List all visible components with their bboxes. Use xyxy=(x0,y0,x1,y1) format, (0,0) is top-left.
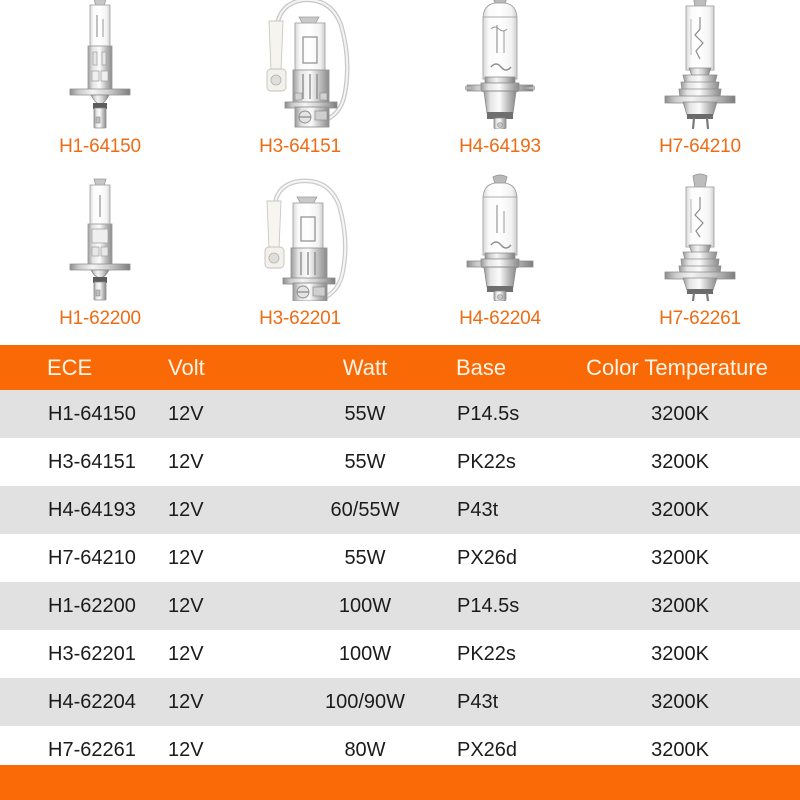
h3-halogen-bulb-icon xyxy=(200,173,400,301)
cell-volt: 12V xyxy=(160,452,300,472)
table-row: H4-64193 12V 60/55W P43t 3200K xyxy=(0,486,800,534)
cell-color-temperature: 3200K xyxy=(560,500,800,520)
h1-halogen-bulb-icon xyxy=(0,0,200,129)
h4-halogen-bulb-icon xyxy=(400,0,600,129)
table-row: H3-62201 12V 100W PK22s 3200K xyxy=(0,630,800,678)
cell-base: P43t xyxy=(430,692,560,712)
cell-volt: 12V xyxy=(160,500,300,520)
h3-halogen-bulb-icon xyxy=(200,0,400,129)
cell-watt: 55W xyxy=(300,452,430,472)
cell-base: P14.5s xyxy=(430,596,560,616)
bulb-label: H3-64151 xyxy=(259,129,341,172)
cell-ece: H1-62200 xyxy=(0,596,160,616)
cell-volt: 12V xyxy=(160,692,300,712)
cell-ece: H7-64210 xyxy=(0,548,160,568)
bulb-label: H7-64210 xyxy=(659,129,741,172)
bulb-gallery-row: H1-62200 xyxy=(0,172,800,340)
h1-halogen-bulb-icon xyxy=(0,173,200,301)
column-header-watt: Watt xyxy=(300,357,430,379)
h7-halogen-bulb-icon xyxy=(600,173,800,301)
cell-volt: 12V xyxy=(160,596,300,616)
cell-ece: H4-64193 xyxy=(0,500,160,520)
bulb-label: H4-62204 xyxy=(459,301,541,340)
h7-halogen-bulb-icon xyxy=(600,0,800,129)
cell-base: PK22s xyxy=(430,644,560,664)
bulb-gallery: H1-64150 xyxy=(0,0,800,340)
cell-color-temperature: 3200K xyxy=(560,644,800,664)
cell-color-temperature: 3200K xyxy=(560,740,800,760)
bulb-label: H1-62200 xyxy=(59,301,141,340)
table-row: H1-64150 12V 55W P14.5s 3200K xyxy=(0,390,800,438)
cell-watt: 100/90W xyxy=(300,692,430,712)
cell-volt: 12V xyxy=(160,404,300,424)
product-spec-page: H1-64150 xyxy=(0,0,800,800)
bulb-label: H4-64193 xyxy=(459,129,541,172)
bulb-card-h4-64193[interactable]: H4-64193 xyxy=(400,0,600,172)
cell-watt: 60/55W xyxy=(300,500,430,520)
specification-table: ECE Volt Watt Base Color Temperature H1-… xyxy=(0,345,800,774)
column-header-ece: ECE xyxy=(0,357,160,379)
column-header-volt: Volt xyxy=(160,357,300,379)
cell-base: PX26d xyxy=(430,548,560,568)
bulb-card-h7-62261[interactable]: H7-62261 xyxy=(600,172,800,340)
cell-ece: H7-62261 xyxy=(0,740,160,760)
bulb-card-h1-64150[interactable]: H1-64150 xyxy=(0,0,200,172)
bulb-card-h4-62204[interactable]: H4-62204 xyxy=(400,172,600,340)
cell-color-temperature: 3200K xyxy=(560,548,800,568)
cell-watt: 55W xyxy=(300,404,430,424)
h4-halogen-bulb-icon xyxy=(400,173,600,301)
bulb-card-h1-62200[interactable]: H1-62200 xyxy=(0,172,200,340)
column-header-base: Base xyxy=(430,357,560,379)
cell-ece: H1-64150 xyxy=(0,404,160,424)
table-header-row: ECE Volt Watt Base Color Temperature xyxy=(0,345,800,390)
bulb-label: H3-62201 xyxy=(259,301,341,340)
cell-color-temperature: 3200K xyxy=(560,452,800,472)
cell-base: P43t xyxy=(430,500,560,520)
table-row: H1-62200 12V 100W P14.5s 3200K xyxy=(0,582,800,630)
bulb-card-h3-64151[interactable]: H3-64151 xyxy=(200,0,400,172)
cell-color-temperature: 3200K xyxy=(560,692,800,712)
cell-volt: 12V xyxy=(160,740,300,760)
cell-watt: 80W xyxy=(300,740,430,760)
cell-base: PK22s xyxy=(430,452,560,472)
cell-watt: 55W xyxy=(300,548,430,568)
column-header-color-temperature: Color Temperature xyxy=(560,357,800,379)
cell-ece: H3-64151 xyxy=(0,452,160,472)
cell-color-temperature: 3200K xyxy=(560,596,800,616)
bulb-label: H7-62261 xyxy=(659,301,741,340)
bulb-gallery-row: H1-64150 xyxy=(0,0,800,172)
cell-volt: 12V xyxy=(160,548,300,568)
cell-base: PX26d xyxy=(430,740,560,760)
footer-accent-bar xyxy=(0,765,800,800)
table-row: H3-64151 12V 55W PK22s 3200K xyxy=(0,438,800,486)
table-row: H4-62204 12V 100/90W P43t 3200K xyxy=(0,678,800,726)
bulb-label: H1-64150 xyxy=(59,129,141,172)
cell-ece: H4-62204 xyxy=(0,692,160,712)
cell-watt: 100W xyxy=(300,644,430,664)
cell-watt: 100W xyxy=(300,596,430,616)
bulb-card-h3-62201[interactable]: H3-62201 xyxy=(200,172,400,340)
cell-ece: H3-62201 xyxy=(0,644,160,664)
cell-color-temperature: 3200K xyxy=(560,404,800,424)
cell-base: P14.5s xyxy=(430,404,560,424)
bulb-card-h7-64210[interactable]: H7-64210 xyxy=(600,0,800,172)
table-row: H7-64210 12V 55W PX26d 3200K xyxy=(0,534,800,582)
cell-volt: 12V xyxy=(160,644,300,664)
